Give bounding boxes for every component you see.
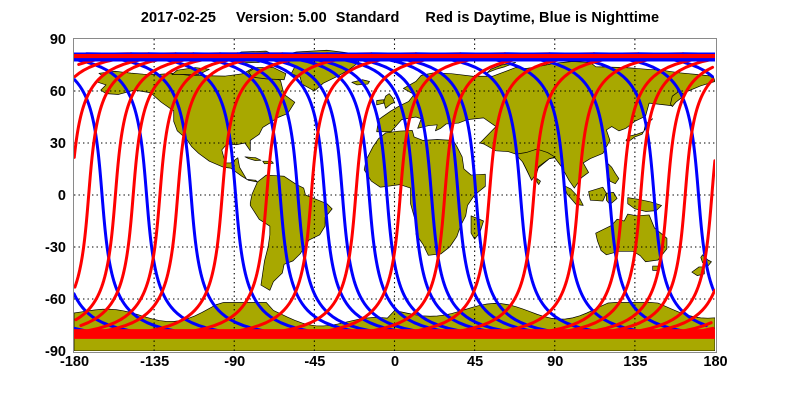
x-tick-label: 0	[365, 355, 425, 370]
landmass-borneo	[589, 187, 607, 201]
plot-area	[73, 38, 717, 353]
x-tick-label: -45	[285, 355, 345, 370]
landmass-sri-lanka	[537, 179, 541, 185]
y-tick-label: 90	[26, 33, 66, 48]
y-tick-label: 60	[26, 85, 66, 100]
x-tick-label: 180	[686, 355, 746, 370]
chart-title: 2017-02-25 Version: 5.00 Standard Red is…	[0, 0, 800, 36]
y-tick-label: 0	[26, 189, 66, 204]
landmass-ireland	[377, 100, 384, 105]
y-tick-label: -30	[26, 241, 66, 256]
y-tick-label: -60	[26, 293, 66, 308]
y-tick-label: 30	[26, 137, 66, 152]
x-tick-label: 45	[445, 355, 505, 370]
title-mode: Standard	[336, 10, 400, 26]
x-tick-label: -180	[45, 355, 105, 370]
world-map-svg	[74, 39, 715, 351]
x-tick-label: -90	[205, 355, 265, 370]
landmass-britain	[384, 94, 395, 109]
x-tick-label: -135	[125, 355, 185, 370]
title-legend: Red is Daytime, Blue is Nighttime	[425, 10, 659, 26]
x-tick-label: 90	[525, 355, 585, 370]
ground-track-map: 2017-02-25 Version: 5.00 Standard Red is…	[0, 0, 800, 400]
x-tick-label: 135	[605, 355, 665, 370]
title-version: Version: 5.00	[236, 10, 327, 26]
title-date: 2017-02-25	[141, 10, 216, 26]
landmass-cuba	[245, 157, 261, 161]
